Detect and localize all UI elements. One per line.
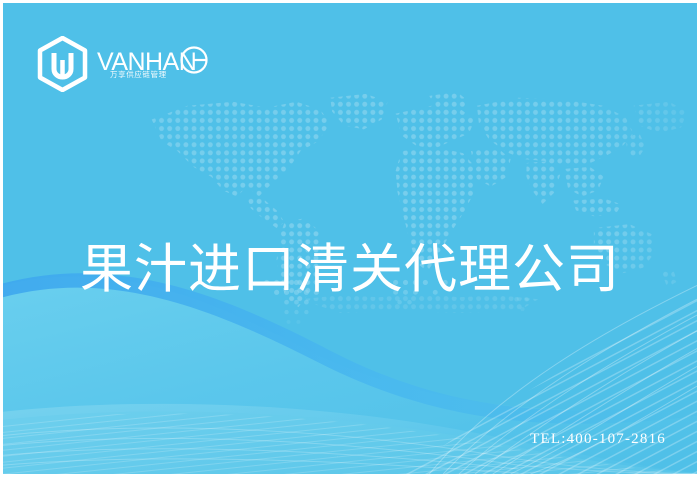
contact-phone[interactable]: TEL:400-107-2816	[530, 431, 666, 448]
promo-banner: VANHAN 万享供应链管理 果汁进口清关代理公司 TEL:400-107-28…	[0, 0, 700, 477]
hexagon-u-mark-icon	[36, 36, 89, 92]
company-logo[interactable]: VANHAN 万享供应链管理	[36, 36, 207, 92]
logo-text-block: VANHAN 万享供应链管理	[97, 44, 207, 84]
letter-g-circle-icon	[179, 44, 209, 76]
logo-subtitle: 万享供应链管理	[110, 71, 167, 79]
page-title: 果汁进口清关代理公司	[3, 241, 697, 299]
